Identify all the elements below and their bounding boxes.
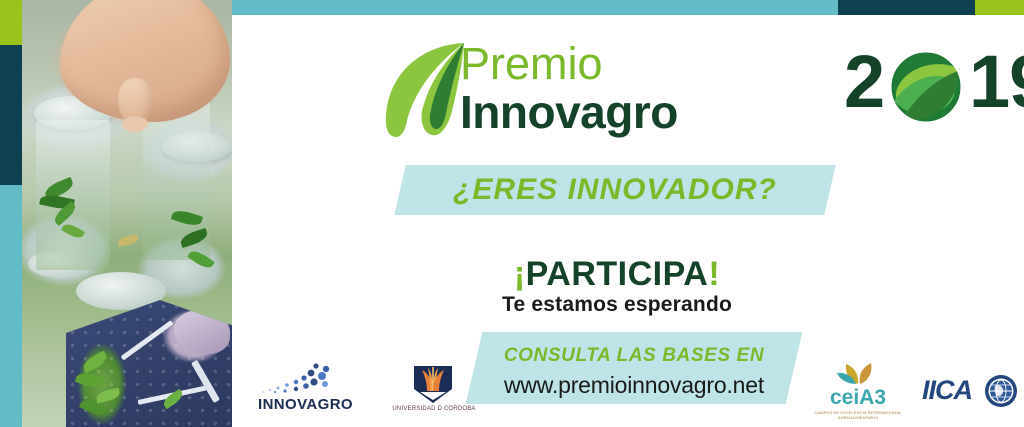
iica-wordmark: IICA (922, 375, 972, 406)
leaf-mark-icon (382, 39, 468, 139)
strip-segment-teal (0, 185, 22, 427)
uco-shield-icon (410, 363, 456, 405)
topbar-segment-teal (232, 0, 838, 15)
content-area: Premio Innovagro 2 19 ¿ERES IN (232, 15, 1024, 427)
partner-logo-ceia3: ceiA3 CAMPUS DE EXCELENCIA INTERNACIONAL… (810, 360, 906, 420)
partner-logo-innovagro: INNOVAGRO (254, 363, 352, 419)
bases-url[interactable]: www.premioinnovagro.net (454, 372, 814, 399)
headline-text: ¿ERES INNOVADOR? (400, 165, 830, 215)
strip-segment-green (0, 0, 22, 45)
brand-lockup: Premio Innovagro 2 19 (382, 35, 912, 145)
strip-segment-dark-teal (0, 45, 22, 185)
innovagro-dots-icon (254, 363, 352, 395)
cta-bang-open: ¡ (514, 255, 526, 293)
innovagro-wordmark: INNOVAGRO (258, 396, 353, 413)
main-photo (22, 0, 232, 427)
cta-subtitle: Te estamos esperando (332, 293, 902, 317)
brand-wordmark: Premio Innovagro (460, 41, 678, 136)
partner-logo-iica: IICA (922, 373, 1024, 413)
left-color-strip (0, 0, 22, 427)
cta-participa: ¡PARTICIPA! (332, 255, 902, 294)
callus-tissue (117, 234, 138, 246)
ceia3-label: ceiA3 (830, 386, 886, 409)
bases-label: CONSULTA LAS BASES EN (474, 345, 794, 367)
topbar-segment-dark-teal (838, 0, 975, 15)
cta-bang-close: ! (708, 255, 720, 293)
brand-line-innovagro: Innovagro (460, 88, 678, 136)
ceia3-wordmark: ceiA3 (810, 386, 906, 410)
ceia3-subtitle: CAMPUS DE EXCELENCIA INTERNACIONAL AGROA… (810, 410, 906, 420)
top-color-bar (232, 0, 1024, 15)
thumbnail (122, 116, 148, 132)
leaf-circle-zero-icon (888, 49, 964, 125)
partner-logo-universidad-cordoba: UNIVERSIDAD D CORDOBA (384, 363, 484, 419)
iica-globe-icon (984, 374, 1018, 408)
brand-line-premio: Premio (460, 41, 678, 87)
year-mark: 2 19 (844, 37, 1024, 137)
ceia3-leaves-icon (828, 360, 888, 386)
cta-word: PARTICIPA (526, 255, 709, 293)
year-digits-19: 19 (969, 37, 1024, 127)
year-digit-2: 2 (844, 37, 884, 127)
uco-wordmark: UNIVERSIDAD D CORDOBA (384, 406, 484, 412)
topbar-segment-green (975, 0, 1024, 15)
promo-poster: Premio Innovagro 2 19 ¿ERES IN (0, 0, 1024, 427)
